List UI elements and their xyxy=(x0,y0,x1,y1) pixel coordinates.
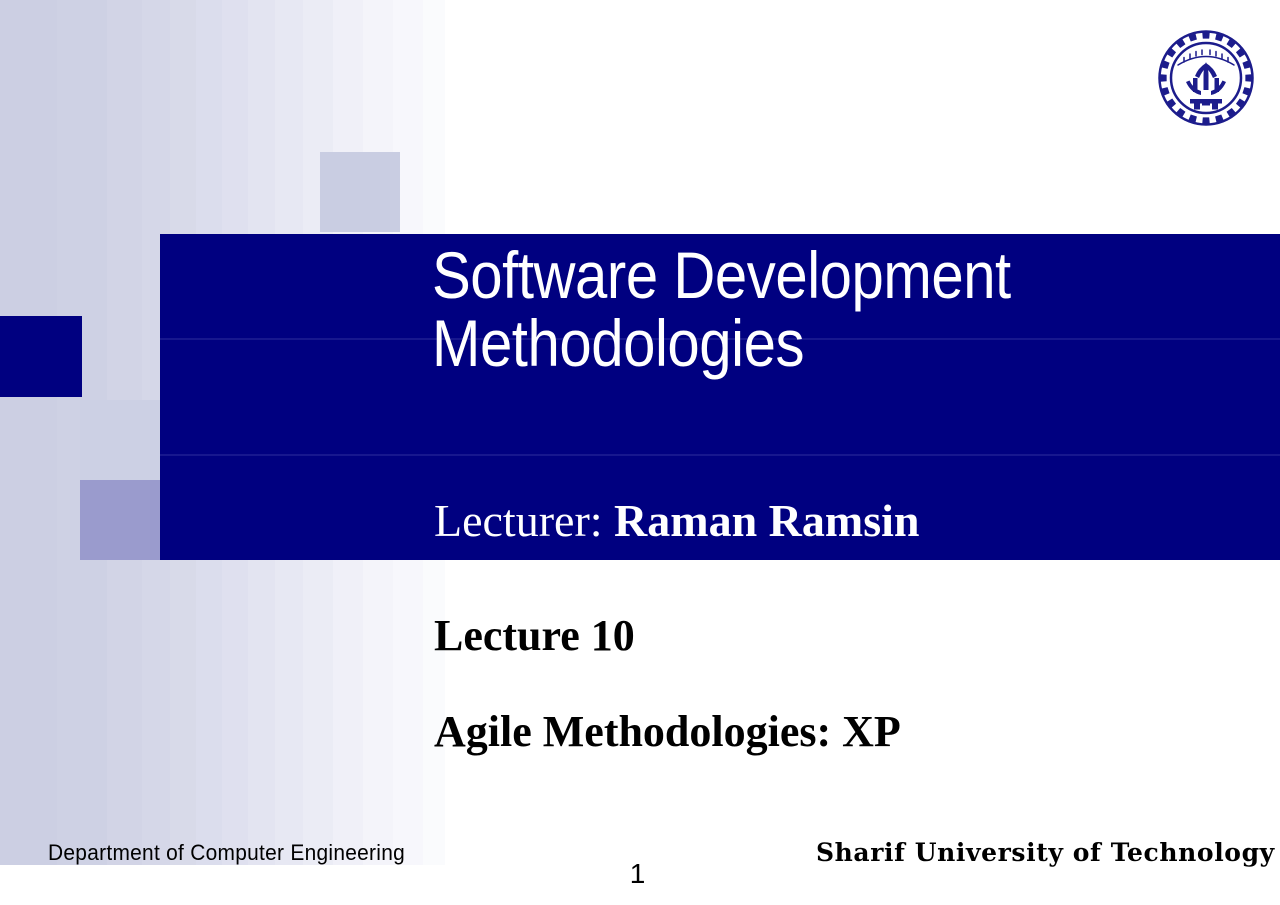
band-divider-lower xyxy=(160,454,1280,456)
footer-university: Sharif University of Technology xyxy=(816,838,1275,867)
square-navy-left xyxy=(0,316,82,397)
title-line-1: Software Development xyxy=(432,242,1127,310)
square-mid-d xyxy=(80,480,160,560)
lecture-number: Lecture 10 xyxy=(434,610,635,661)
lecturer-label: Lecturer: xyxy=(434,495,603,546)
lecturer-credit: Lecturer: Raman Ramsin xyxy=(434,494,919,547)
lecture-topic: Agile Methodologies: XP xyxy=(434,706,901,757)
slide-canvas: Software Development Methodologies Lectu… xyxy=(0,0,1280,905)
square-light-top xyxy=(320,152,400,232)
sharif-university-logo-icon xyxy=(1156,26,1256,130)
lecturer-name: Raman Ramsin xyxy=(614,495,919,546)
title-line-2: Methodologies xyxy=(432,310,1127,378)
footer-department: Department of Computer Engineering xyxy=(48,840,405,866)
square-light-d xyxy=(80,400,160,480)
footer-page-number: 1 xyxy=(600,858,675,890)
gradient-stripe-0 xyxy=(0,0,57,865)
slide-title: Software Development Methodologies xyxy=(432,242,1222,378)
